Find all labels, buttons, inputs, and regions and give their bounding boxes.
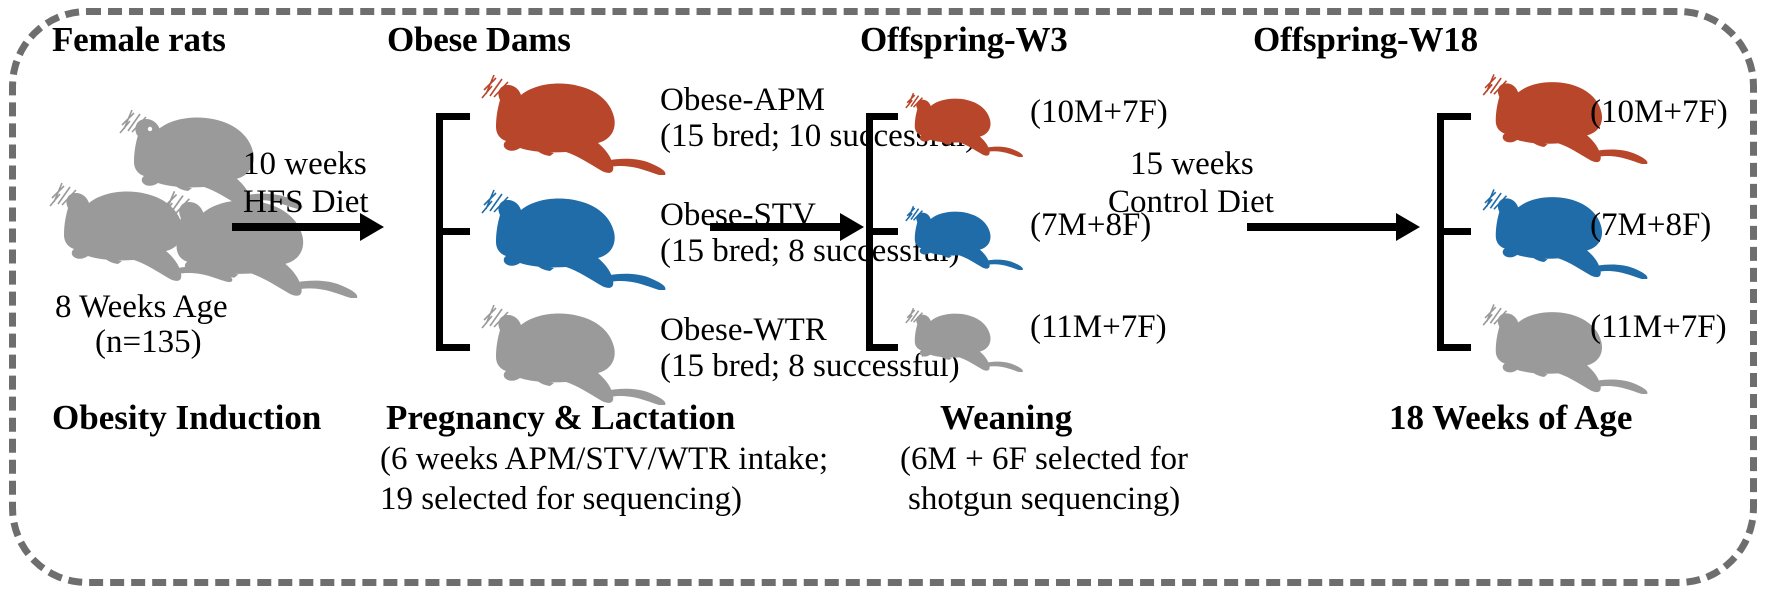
offspring-w3-wtr-detail: (11M+7F) [1030, 310, 1167, 346]
stage3-header: Offspring-W3 [860, 20, 1068, 60]
offspring-w18-wtr-detail: (11M+7F) [1590, 310, 1727, 346]
arrow1-line [232, 223, 367, 231]
transition3-line2: Control Diet [1108, 185, 1274, 221]
rat-icon-offspring-w3-apm [898, 90, 1026, 157]
stage1-caption: Obesity Induction [52, 398, 321, 438]
stage4-bracket-middle-stub [1437, 228, 1471, 235]
stage2-caption-note-line2: 19 selected for sequencing) [380, 482, 742, 518]
arrow2-line [710, 223, 846, 231]
offspring-w18-stv-detail: (7M+8F) [1590, 208, 1711, 244]
arrow1-head [360, 213, 384, 241]
transition1-line1: 10 weeks [243, 147, 367, 183]
stage3-bracket-middle-stub [866, 228, 898, 235]
arrow2-head [840, 213, 864, 241]
transition1-line2: HFS Diet [243, 185, 369, 221]
arrow3-head [1396, 213, 1420, 241]
offspring-w18-apm-detail: (10M+7F) [1590, 95, 1728, 131]
figure-canvas: Female rats [0, 0, 1772, 600]
stage4-caption: 18 Weeks of Age [1389, 398, 1632, 438]
stage2-bracket-middle-stub [436, 228, 470, 235]
rat-icon-obese-stv [470, 185, 670, 290]
rat-icon-offspring-w3-stv [898, 203, 1026, 270]
arrow3-line [1247, 223, 1402, 231]
stage3-caption-note-line2: shotgun sequencing) [908, 482, 1180, 518]
transition3-line1: 15 weeks [1130, 147, 1254, 183]
stage1-detail-line2: (n=135) [95, 325, 202, 361]
offspring-w3-apm-detail: (10M+7F) [1030, 95, 1168, 131]
stage3-caption-note-line1: (6M + 6F selected for [900, 442, 1188, 478]
stage2-caption: Pregnancy & Lactation [386, 398, 735, 438]
stage1-detail-line1: 8 Weeks Age [55, 290, 228, 326]
stage3-caption: Weaning [940, 398, 1072, 438]
rat-icon-obese-apm [470, 70, 670, 175]
stage1-header: Female rats [52, 20, 226, 60]
rat-icon-obese-wtr [470, 300, 670, 405]
stage4-header: Offspring-W18 [1253, 20, 1478, 60]
stage2-caption-note-line1: (6 weeks APM/STV/WTR intake; [380, 442, 828, 478]
rat-icon-offspring-w3-wtr [898, 305, 1026, 372]
stage2-header: Obese Dams [387, 20, 571, 60]
